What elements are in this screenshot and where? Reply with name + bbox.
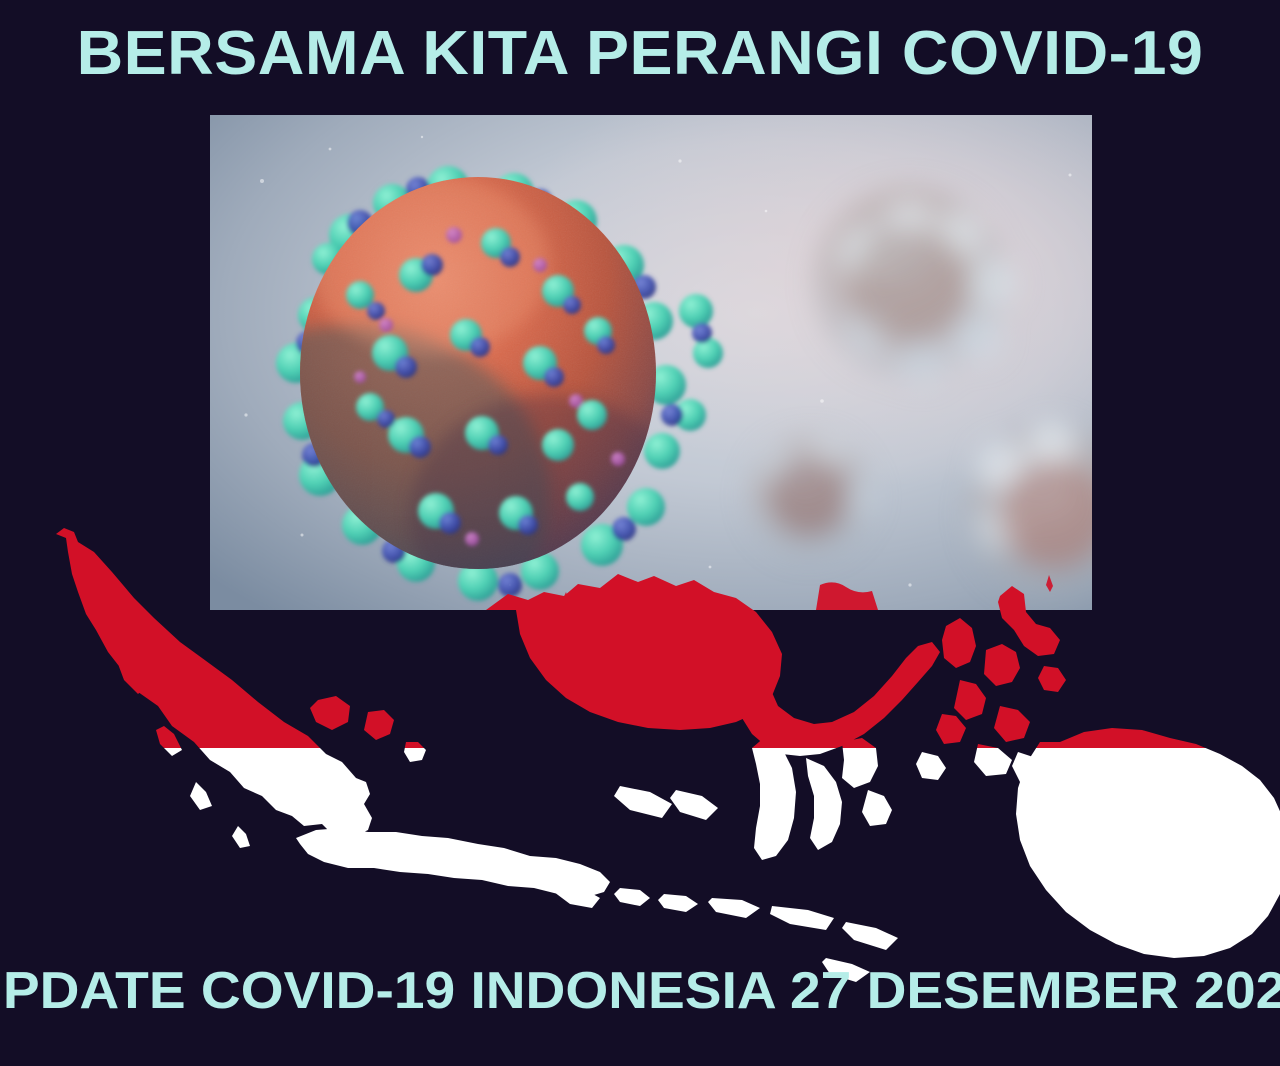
page-title: BERSAMA KITA PERANGI COVID-19 — [0, 22, 1280, 86]
indonesia-flag-map — [0, 490, 1280, 990]
indonesia-map — [0, 490, 1280, 990]
footer-caption: UPDATE COVID-19 INDONESIA 27 DESEMBER 20… — [0, 963, 1280, 1019]
poster-canvas: BERSAMA KITA PERANGI COVID-19 — [0, 0, 1280, 1066]
indonesia-landmass — [0, 490, 1280, 990]
